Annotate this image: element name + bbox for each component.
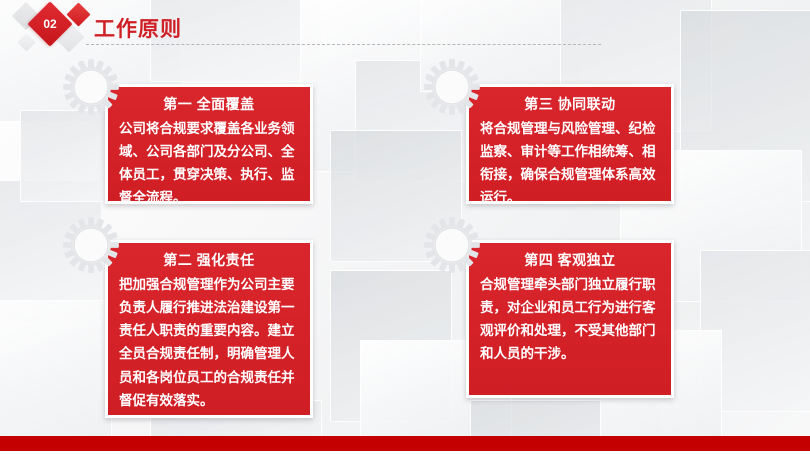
card-title-4: 第四 客观独立 — [469, 252, 671, 269]
principle-card-2[interactable]: 第二 强化责任 把加强合规管理作为公司主要负责人履行推进法治建设第一责任人职责的… — [105, 240, 313, 418]
principle-card-1[interactable]: 第一 全面覆盖 公司将合规要求覆盖各业务领域、公司各部门及分公司、全体员工，贯穿… — [105, 84, 313, 204]
bottom-accent-bar — [0, 436, 810, 451]
card-body-3: 将合规管理与风险管理、纪检监察、审计等工作相统筹、相衔接，确保合规管理体系高效运… — [469, 117, 671, 210]
slide-canvas: 02 工作原则 第一 全面覆盖 公司将合规要求覆盖各业务领域、公司各部门及分公司… — [0, 0, 810, 454]
card-title-2: 第二 强化责任 — [108, 252, 310, 269]
card-body-4: 合规管理牵头部门独立履行职责，对企业和员工行为进行客观评价和处理，不受其他部门和… — [469, 273, 671, 366]
header-badge: 02 — [12, 0, 102, 56]
card-title-3: 第三 协同联动 — [469, 96, 671, 113]
decorative-diamond-3 — [17, 33, 35, 51]
card-body-2: 把加强合规管理作为公司主要负责人履行推进法治建设第一责任人职责的重要内容。建立全… — [108, 273, 310, 412]
principle-card-3[interactable]: 第三 协同联动 将合规管理与风险管理、纪检监察、审计等工作相统筹、相衔接，确保合… — [466, 84, 674, 204]
card-body-1: 公司将合规要求覆盖各业务领域、公司各部门及分公司、全体员工，贯穿决策、执行、监督… — [108, 117, 310, 210]
badge-number: 02 — [34, 8, 66, 40]
principle-card-4[interactable]: 第四 客观独立 合规管理牵头部门独立履行职责，对企业和员工行为进行客观评价和处理… — [466, 240, 674, 398]
title-divider — [86, 44, 601, 45]
card-title-1: 第一 全面覆盖 — [108, 96, 310, 113]
page-title: 工作原则 — [94, 13, 182, 43]
